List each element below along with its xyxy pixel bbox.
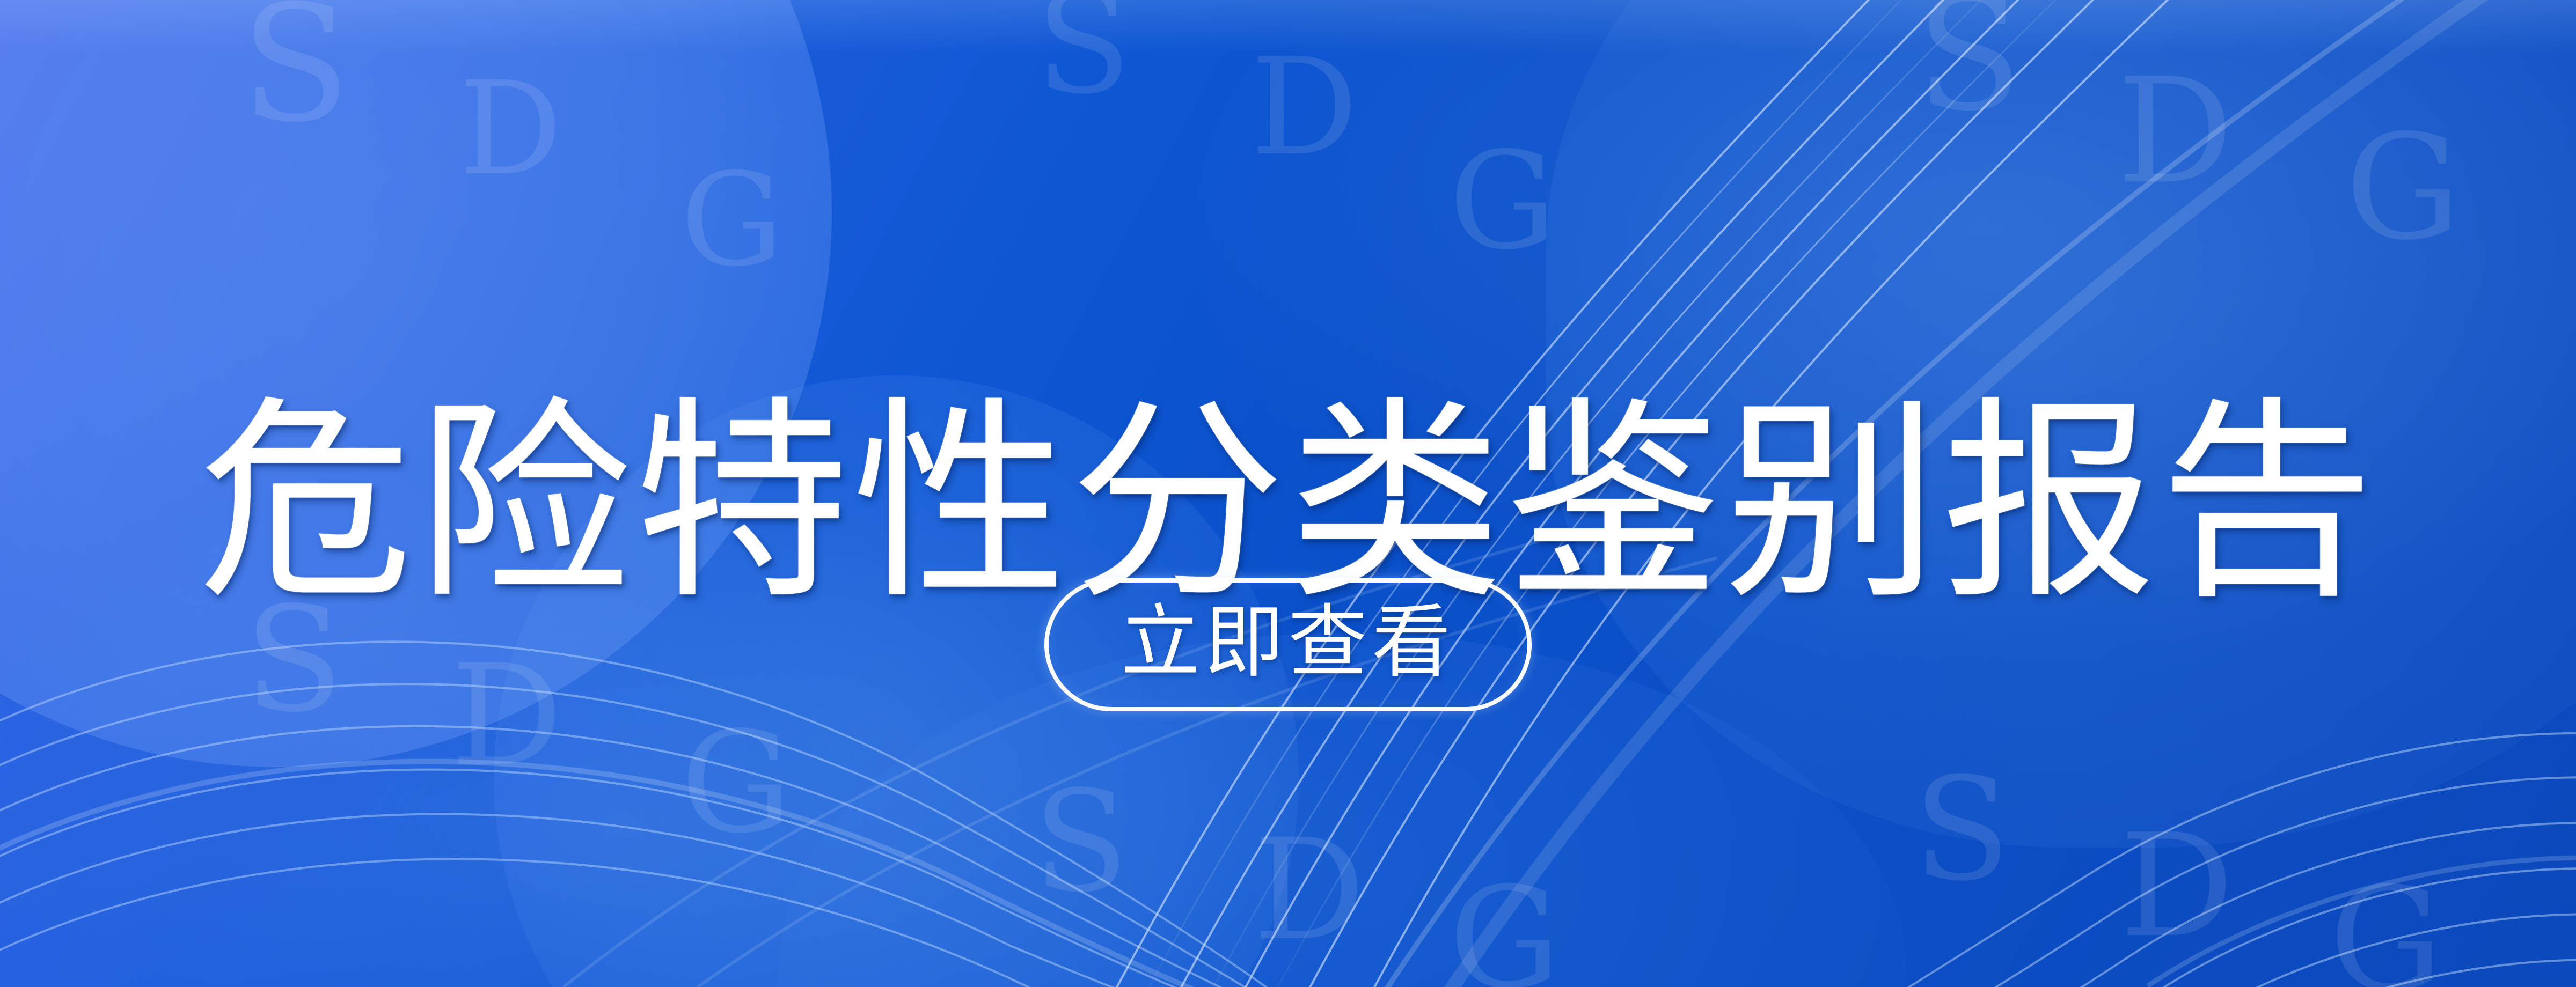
watermark-letter-s-3: S [1036, 0, 1131, 114]
watermark-letter-g-17: G [2329, 869, 2443, 987]
watermark-letter-d-1: D [459, 64, 562, 193]
top-edge-highlight [0, 0, 2576, 54]
watermark-letter-g-5: G [1449, 134, 1556, 268]
cta-block: 立即查看 [0, 578, 2576, 711]
promo-banner: SDGSDGSDGSDGSDGSDG 危险特性分类鉴别报告 立即查看 [0, 0, 2576, 987]
watermark-letter-d-16: D [2120, 815, 2234, 957]
watermark-letter-s-0: S [240, 0, 351, 145]
watermark-letter-d-4: D [1250, 40, 1358, 174]
watermark-letter-d-7: D [2117, 59, 2233, 204]
watermark-letter-s-6: S [1916, 0, 2023, 133]
watermark-letter-g-8: G [2345, 115, 2461, 260]
view-now-button[interactable]: 立即查看 [1044, 578, 1532, 711]
watermark-letter-g-14: G [1449, 869, 1561, 987]
watermark-letter-s-15: S [1913, 759, 2011, 901]
watermark-letter-d-13: D [1253, 821, 1365, 960]
watermark-letter-s-12: S [1033, 772, 1129, 912]
